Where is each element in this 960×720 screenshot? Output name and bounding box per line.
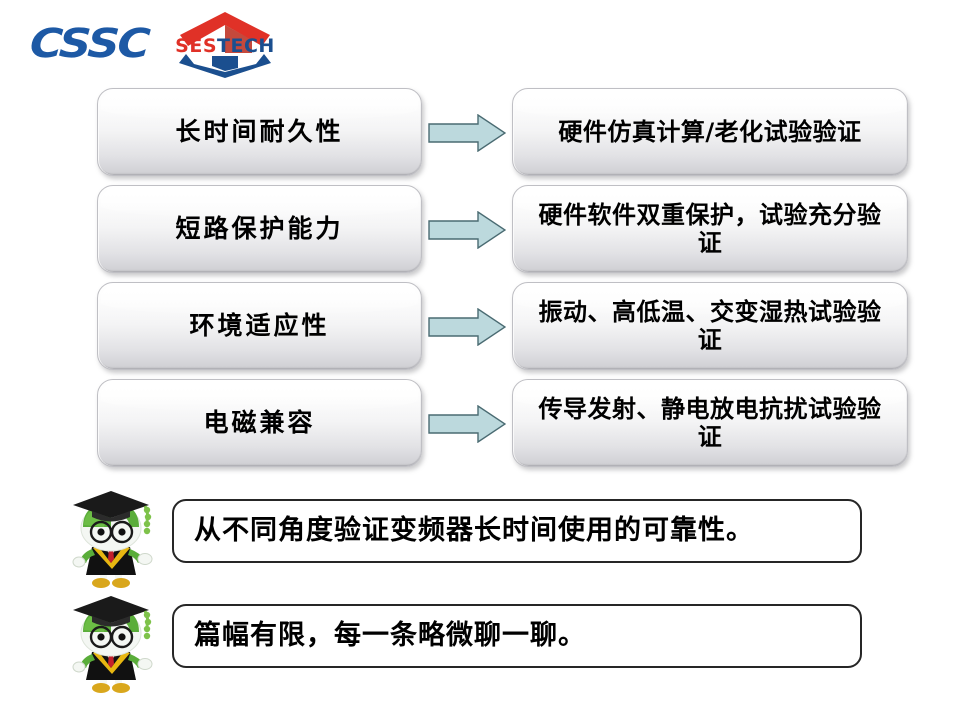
flow-left-label: 长时间耐久性: [175, 117, 343, 147]
flow-left-box[interactable]: 环境适应性: [97, 282, 422, 370]
note-text: 从不同角度验证变频器长时间使用的可靠性。: [194, 516, 754, 546]
note-row: 篇幅有限，每一条略微聊一聊。: [0, 592, 960, 692]
note-row: 从不同角度验证变频器长时间使用的可靠性。: [0, 487, 960, 587]
sestech-logo-mark: SESTECH: [172, 8, 278, 78]
flow-right-label: 硬件软件双重保护，试验充分验证: [527, 201, 893, 258]
right-arrow-icon: [428, 114, 506, 152]
flow-left-box[interactable]: 长时间耐久性: [97, 88, 422, 176]
note-box[interactable]: 篇幅有限，每一条略微聊一聊。: [172, 604, 862, 668]
note-box[interactable]: 从不同角度验证变频器长时间使用的可靠性。: [172, 499, 862, 563]
cssc-logo: CSSC: [30, 22, 160, 66]
flow-row: 长时间耐久性 硬件仿真计算/老化试验验证: [0, 88, 960, 184]
flow-right-label: 硬件仿真计算/老化试验验证: [558, 118, 861, 146]
flow-row: 短路保护能力 硬件软件双重保护，试验充分验证: [0, 185, 960, 281]
flow-row: 电磁兼容 传导发射、静电放电抗扰试验验证: [0, 379, 960, 475]
flow-left-box[interactable]: 电磁兼容: [97, 379, 422, 467]
flow-left-label: 电磁兼容: [203, 408, 315, 438]
flow-left-box[interactable]: 短路保护能力: [97, 185, 422, 273]
graduate-mascot-icon: [52, 487, 170, 592]
graduate-mascot-icon: [52, 592, 170, 697]
flow-right-box[interactable]: 振动、高低温、交变湿热试验验证: [512, 282, 908, 370]
flow-right-box[interactable]: 硬件软件双重保护，试验充分验证: [512, 185, 908, 273]
flow-right-box[interactable]: 硬件仿真计算/老化试验验证: [512, 88, 908, 176]
cssc-logo-text: CSSC: [29, 22, 177, 66]
flow-row: 环境适应性 振动、高低温、交变湿热试验验证: [0, 282, 960, 378]
right-arrow-icon: [428, 211, 506, 249]
flow-right-label: 传导发射、静电放电抗扰试验验证: [527, 395, 893, 452]
flow-left-label: 环境适应性: [189, 311, 329, 341]
right-arrow-icon: [428, 308, 506, 346]
sestech-logo: SESTECH: [172, 8, 278, 78]
svg-text:SESTECH: SESTECH: [175, 35, 275, 57]
note-text: 篇幅有限，每一条略微聊一聊。: [194, 621, 586, 651]
flow-left-label: 短路保护能力: [175, 214, 343, 244]
logo-bar: CSSC SESTECH: [0, 0, 960, 82]
right-arrow-icon: [428, 405, 506, 443]
flow-diagram: 长时间耐久性 硬件仿真计算/老化试验验证 短路保护能力 硬件软件双重保护，试验充…: [0, 82, 960, 482]
flow-right-label: 振动、高低温、交变湿热试验验证: [527, 298, 893, 355]
flow-right-box[interactable]: 传导发射、静电放电抗扰试验验证: [512, 379, 908, 467]
